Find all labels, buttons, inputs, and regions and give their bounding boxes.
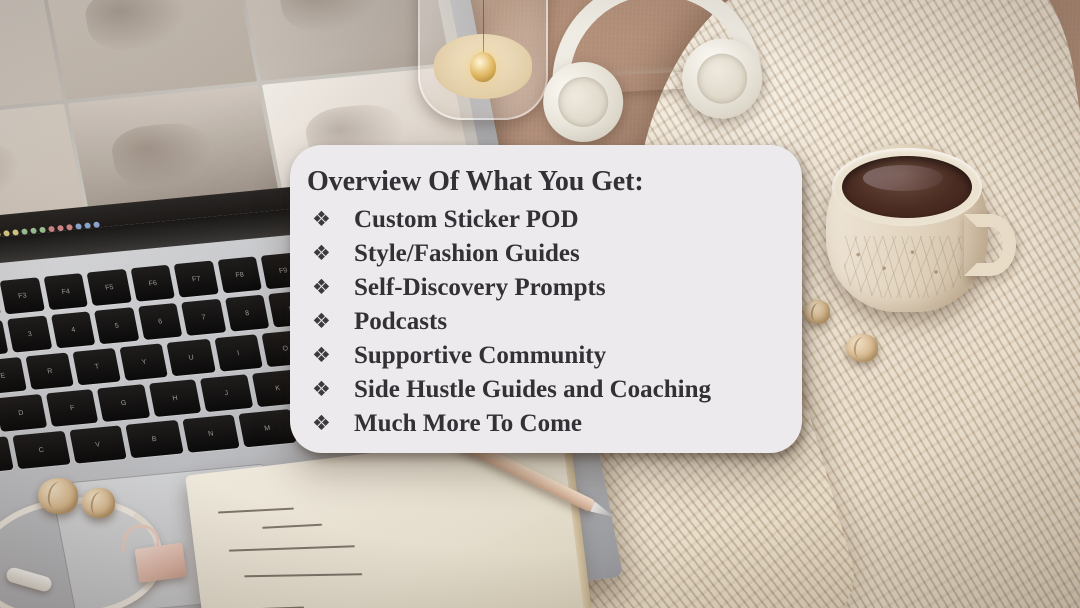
benefit-item-label: Podcasts	[354, 309, 447, 334]
benefit-item-label: Much More To Come	[354, 411, 582, 436]
benefit-item: ❖Podcasts	[306, 304, 776, 338]
keyboard-key: H	[149, 379, 202, 417]
candle-jar	[418, 0, 548, 120]
keyboard-key: I	[214, 334, 263, 371]
diamond-cluster-bullet-icon: ❖	[306, 209, 354, 230]
diamond-cluster-bullet-icon: ❖	[306, 345, 354, 366]
keyboard-key: V	[69, 425, 127, 463]
candle-flame	[470, 52, 496, 82]
diamond-cluster-bullet-icon: ❖	[306, 277, 354, 298]
benefit-item-label: Side Hustle Guides and Coaching	[354, 377, 711, 402]
keyboard-key: 2	[0, 320, 9, 357]
overview-card: Overview Of What You Get: ❖Custom Sticke…	[290, 145, 802, 453]
keyboard-key: N	[182, 415, 240, 453]
mug-handle	[964, 214, 1016, 276]
keyboard-key: Y	[120, 343, 169, 380]
keyboard-key: B	[125, 420, 183, 458]
keyboard-key: 6	[138, 303, 183, 340]
diamond-cluster-bullet-icon: ❖	[306, 311, 354, 332]
keyboard-key: M	[238, 409, 296, 447]
benefit-item: ❖Style/Fashion Guides	[306, 236, 776, 270]
keyboard-key: E	[0, 357, 27, 394]
keyboard-key: F3	[0, 277, 45, 314]
candle-wick	[483, 0, 484, 55]
benefit-item: ❖Self-Discovery Prompts	[306, 270, 776, 304]
keyboard-key: U	[167, 339, 216, 376]
diamond-cluster-bullet-icon: ❖	[306, 243, 354, 264]
screenshot-stage: escF1F2F3F4F5F6F7F8F9F10F11F12~123456789…	[0, 0, 1080, 608]
benefit-item: ❖Custom Sticker POD	[306, 202, 776, 236]
keyboard-key: R	[26, 352, 75, 389]
benefit-item: ❖Side Hustle Guides and Coaching	[306, 372, 776, 406]
nut	[804, 300, 830, 324]
benefit-item: ❖Supportive Community	[306, 338, 776, 372]
keyboard-key: F6	[130, 265, 175, 302]
benefit-item-label: Supportive Community	[354, 343, 606, 368]
card-title: Overview Of What You Get:	[306, 167, 776, 197]
keyboard-key: J	[200, 374, 253, 412]
keyboard-key: 7	[181, 299, 226, 336]
keyboard-key: G	[97, 384, 150, 422]
keyboard-key: F8	[217, 256, 262, 293]
mug-pattern	[844, 236, 962, 298]
benefit-list: ❖Custom Sticker POD❖Style/Fashion Guides…	[306, 202, 776, 440]
nut	[846, 334, 878, 362]
binder-clip	[127, 532, 191, 584]
benefit-item-label: Self-Discovery Prompts	[354, 275, 606, 300]
benefit-item-label: Custom Sticker POD	[354, 207, 579, 232]
keyboard-key: 3	[7, 316, 52, 353]
keyboard-key: F7	[174, 261, 219, 298]
keyboard-key: 8	[225, 295, 270, 332]
benefit-item-label: Style/Fashion Guides	[354, 241, 580, 266]
keyboard-key: F5	[87, 269, 132, 306]
keyboard-key: 4	[51, 311, 96, 348]
keyboard-key: F4	[43, 273, 88, 310]
binder-clip-body	[135, 543, 187, 583]
moodboard-tile	[42, 0, 257, 100]
keyboard-key: D	[0, 394, 47, 432]
diamond-cluster-bullet-icon: ❖	[306, 379, 354, 400]
diamond-cluster-bullet-icon: ❖	[306, 413, 354, 434]
keyboard-key: C	[12, 431, 70, 469]
keyboard-key: X	[0, 436, 14, 474]
headphones	[531, 0, 784, 144]
keyboard-key: F	[46, 389, 99, 427]
tea-liquid	[842, 156, 972, 218]
nut	[82, 488, 115, 518]
keyboard-key: T	[73, 348, 122, 385]
tea-mug	[826, 144, 1016, 319]
keyboard-key: 5	[94, 307, 139, 344]
nut	[38, 478, 78, 514]
benefit-item: ❖Much More To Come	[306, 406, 776, 440]
